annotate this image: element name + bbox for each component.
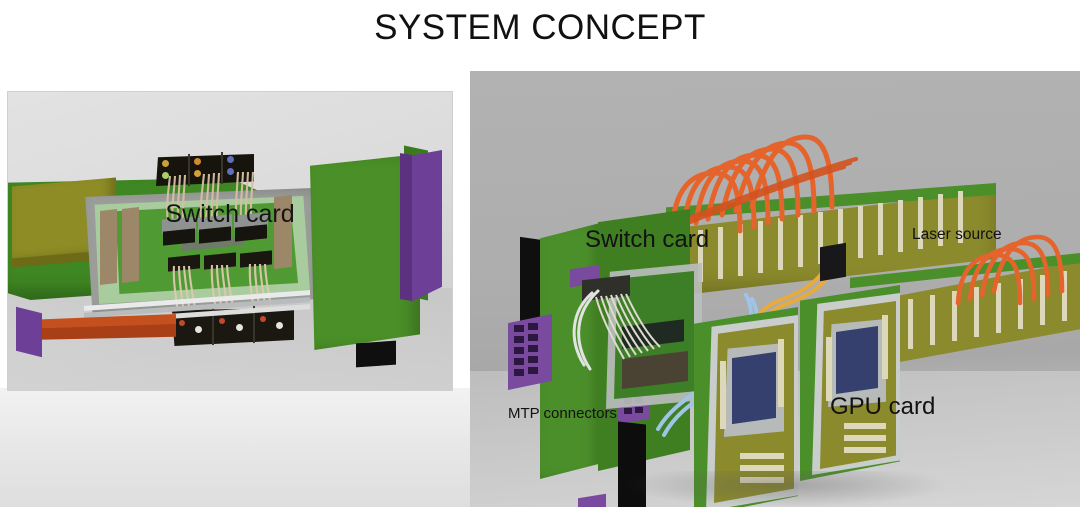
engine-port-white	[236, 324, 243, 331]
card-foot	[356, 341, 396, 368]
engine-port-red	[219, 318, 225, 324]
right-label-laser-source: Laser source	[912, 226, 1002, 244]
gpu-card-2-traces	[820, 299, 900, 473]
right-label-mtp-connectors: MTP connectors	[508, 405, 617, 422]
engine-port-white	[195, 326, 202, 333]
switch-card-closeup-panel: Switch card 6 optical engines surroundin…	[8, 92, 452, 390]
white-fiber-loop	[562, 287, 632, 377]
fiber-port	[227, 156, 234, 163]
optical-module	[820, 243, 846, 282]
card-ground-shadow	[620, 471, 950, 507]
purple-connector	[16, 307, 42, 357]
mtp-connector-upper-holes	[512, 319, 548, 385]
left-panel-heading: Switch card	[8, 200, 452, 229]
orange-fiber-loops-upper	[648, 127, 978, 237]
right-label-switch-card: Switch card	[585, 226, 709, 254]
page-title: SYSTEM CONCEPT	[0, 8, 1080, 48]
right-label-gpu-card: GPU card	[830, 393, 935, 421]
slide-background-fill	[0, 388, 470, 507]
engine-port-red	[260, 316, 266, 322]
engine-port-red	[179, 320, 185, 326]
system-assembly-panel: Switch card Laser source MTP connectors …	[470, 71, 1080, 507]
fiber-port	[194, 158, 201, 165]
engine-port-white	[276, 322, 283, 329]
fiber-port	[162, 160, 169, 167]
slide-canvas: SYSTEM CONCEPT	[0, 0, 1080, 507]
